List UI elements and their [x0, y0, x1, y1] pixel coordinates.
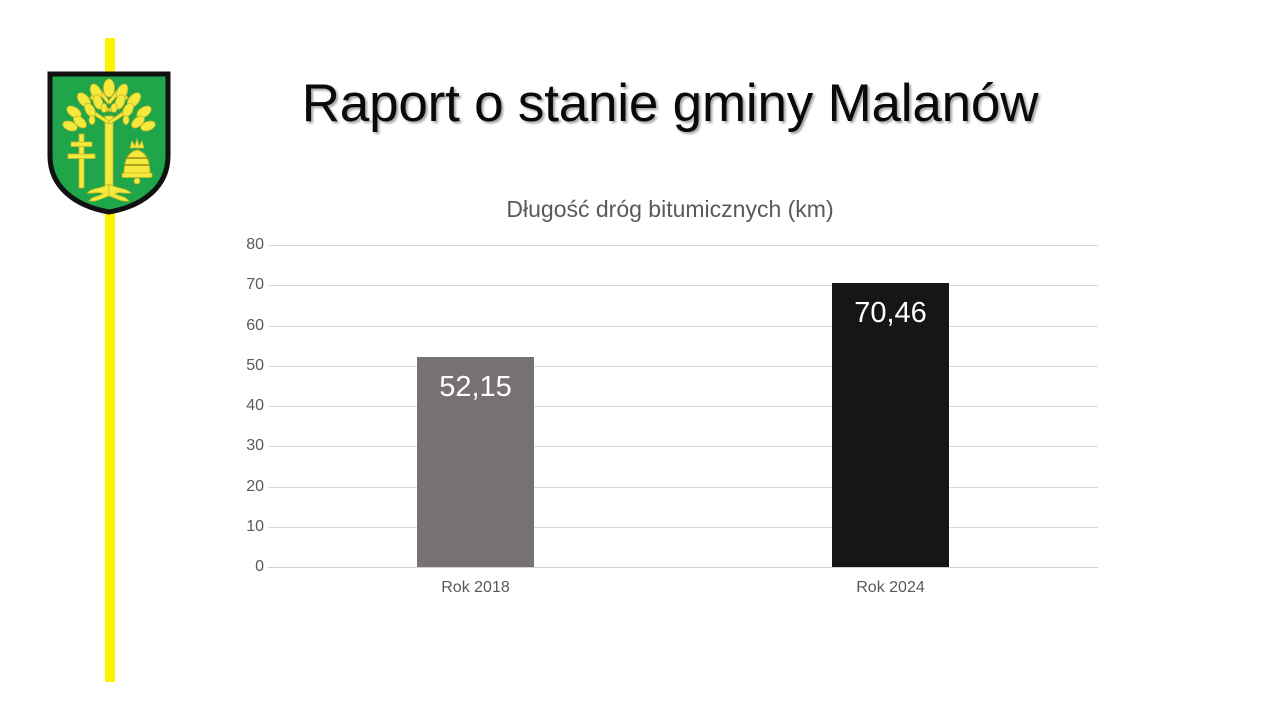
gridline — [268, 285, 1098, 286]
chart-title: Długość dróg bitumicznych (km) — [200, 196, 1140, 223]
bar-1[interactable]: 52,15 — [417, 357, 534, 567]
bar-chart: Długość dróg bitumicznych (km) 010203040… — [200, 190, 1140, 610]
gridline — [268, 446, 1098, 447]
gridline — [268, 487, 1098, 488]
gridline — [268, 245, 1098, 246]
y-axis-tick-label: 30 — [218, 437, 264, 455]
gridline — [268, 527, 1098, 528]
y-axis-tick-label: 0 — [218, 558, 264, 576]
y-axis-tick-label: 70 — [218, 276, 264, 294]
plot-area: 0102030405060708052,1570,46 — [268, 245, 1098, 567]
y-axis-tick-label: 10 — [218, 518, 264, 536]
coat-of-arms-crest — [46, 70, 172, 216]
bar-value-label: 70,46 — [832, 297, 949, 330]
gridline — [268, 366, 1098, 367]
y-axis-tick-label: 40 — [218, 397, 264, 415]
y-axis-tick-label: 20 — [218, 478, 264, 496]
gridline — [268, 326, 1098, 327]
bar-2[interactable]: 70,46 — [832, 283, 949, 567]
gridline — [268, 567, 1098, 568]
page-title: Raport o stanie gminy Malanów — [200, 74, 1140, 133]
y-axis-tick-label: 60 — [218, 317, 264, 335]
y-axis-tick-label: 50 — [218, 357, 264, 375]
gridline — [268, 406, 1098, 407]
x-axis-category-label: Rok 2018 — [268, 579, 683, 597]
y-axis-tick-label: 80 — [218, 236, 264, 254]
bar-value-label: 52,15 — [417, 371, 534, 404]
x-axis-category-label: Rok 2024 — [683, 579, 1098, 597]
